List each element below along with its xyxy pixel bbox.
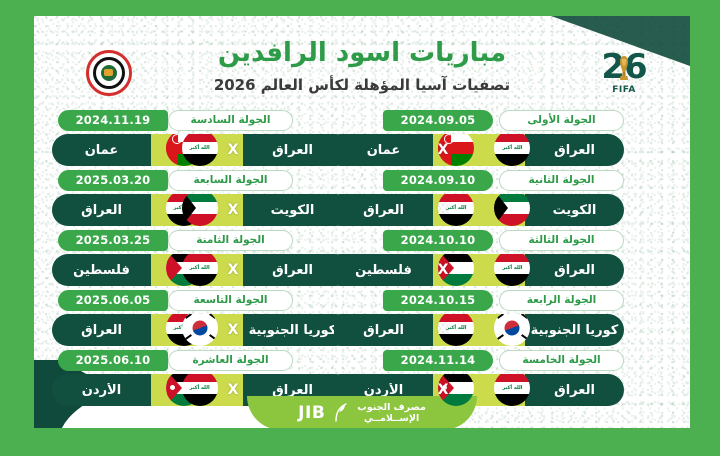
round-header: الجولة الخامسة2024.11.14 (334, 348, 624, 372)
versus-panel: X (151, 254, 243, 286)
page-title: مباريات اسود الرافدين (34, 38, 690, 68)
versus-panel: X (151, 134, 243, 166)
match-date-pill: 2024.11.14 (383, 350, 493, 371)
flag-iraq-icon (494, 254, 530, 286)
home-team-name: العراق (525, 383, 624, 398)
versus-separator: X (438, 262, 449, 278)
match-round: الجولة التاسعة2025.06.05العراقXكوريا الج… (52, 288, 342, 344)
versus-separator: X (228, 202, 239, 218)
versus-separator: X (228, 262, 239, 278)
round-header: الجولة الأولى2024.09.05 (334, 108, 624, 132)
round-header: الجولة العاشرة2025.06.10 (52, 348, 342, 372)
away-team-name: العراق (334, 323, 433, 338)
fifa-world-cup-2026-logo: 26 FIFA (594, 42, 654, 104)
match-bar[interactable]: فلسطينXالعراق (52, 254, 342, 286)
match-round: الجولة الثانية2024.09.10الكويتXالعراق (334, 168, 624, 224)
korea-flag-trigram-bar (497, 334, 504, 340)
round-label-pill: الجولة السابعة (168, 170, 293, 191)
match-bar[interactable]: عمانXالعراق (52, 134, 342, 166)
sponsor-bank-abbreviation: JIB (298, 403, 325, 423)
match-round: الجولة الأولى2024.09.05العراقXعمان (334, 108, 624, 164)
round-header: الجولة السابعة2025.03.20 (52, 168, 342, 192)
flag-south-korea-icon (494, 314, 530, 346)
poster-header: مباريات اسود الرافدين تصفيات آسيا المؤهل… (34, 16, 690, 110)
home-team-name: العراق (52, 203, 151, 218)
away-team-name: العراق (243, 143, 342, 158)
away-team-name: كوريا الجنوبية (243, 323, 342, 338)
home-team-name: العراق (525, 263, 624, 278)
round-header: الجولة التاسعة2025.06.05 (52, 288, 342, 312)
versus-separator: X (438, 142, 449, 158)
round-label-pill: الجولة الخامسة (499, 350, 624, 371)
match-round: الجولة السادسة2024.11.19عمانXالعراق (52, 108, 342, 164)
match-bar[interactable]: كوريا الجنوبيةXالعراق (334, 314, 624, 346)
round-header: الجولة الثالثة2024.10.10 (334, 228, 624, 252)
frame-left-border (0, 0, 34, 456)
sponsor-bank-name-line1: مصرف الجنوب (357, 402, 426, 413)
home-team-name: الكويت (525, 203, 624, 218)
away-team-name: العراق (243, 263, 342, 278)
sponsor-bank-name: مصرف الجنوب الإســلامــي (357, 402, 426, 424)
match-bar[interactable]: العراقXعمان (334, 134, 624, 166)
flag-kuwait-icon (182, 194, 218, 226)
match-date-pill: 2024.10.15 (383, 290, 493, 311)
match-bar[interactable]: الكويتXالعراق (334, 194, 624, 226)
round-header: الجولة السادسة2024.11.19 (52, 108, 342, 132)
match-column-right: الجولة الأولى2024.09.05العراقXعمانالجولة… (334, 108, 624, 408)
versus-separator: X (228, 142, 239, 158)
flag-iraq-icon (182, 134, 218, 166)
flag-south-korea-icon (182, 314, 218, 346)
match-bar[interactable]: العراقXالكويت (52, 194, 342, 226)
match-bar[interactable]: العراقXفلسطين (334, 254, 624, 286)
match-round: الجولة الثامنة2025.03.25فلسطينXالعراق (52, 228, 342, 284)
match-date-pill: 2025.03.25 (58, 230, 168, 251)
versus-panel: X (433, 374, 525, 406)
world-cup-trophy-icon (617, 54, 630, 82)
versus-separator: X (438, 322, 449, 338)
match-columns: الجولة السادسة2024.11.19عمانXالعراقالجول… (34, 108, 690, 408)
round-header: الجولة الرابعة2024.10.15 (334, 288, 624, 312)
korea-flag-trigram-bar (497, 314, 504, 319)
match-date-pill: 2024.10.10 (383, 230, 493, 251)
round-label-pill: الجولة السادسة (168, 110, 293, 131)
home-team-name: العراق (52, 323, 151, 338)
sponsor-bank-name-line2: الإســلامــي (357, 413, 426, 424)
home-team-name: عمان (52, 143, 151, 158)
home-team-name: الأردن (52, 383, 151, 398)
versus-panel: X (433, 134, 525, 166)
match-column-left: الجولة السادسة2024.11.19عمانXالعراقالجول… (52, 108, 342, 408)
round-label-pill: الجولة الثالثة (499, 230, 624, 251)
frame-bottom-border (0, 428, 720, 456)
flag-iraq-icon (494, 134, 530, 166)
match-round: الجولة السابعة2025.03.20العراقXالكويت (52, 168, 342, 224)
away-team-name: الكويت (243, 203, 342, 218)
round-label-pill: الجولة الأولى (499, 110, 624, 131)
versus-panel: X (151, 194, 243, 226)
away-team-name: عمان (334, 143, 433, 158)
round-header: الجولة الثامنة2025.03.25 (52, 228, 342, 252)
korea-flag-trigram-bar (185, 334, 192, 340)
home-team-name: كوريا الجنوبية (525, 323, 624, 338)
poster-canvas: مباريات اسود الرافدين تصفيات آسيا المؤهل… (34, 16, 690, 428)
versus-separator: X (438, 382, 449, 398)
away-team-name: فلسطين (334, 263, 433, 278)
match-round: الجولة الرابعة2024.10.15كوريا الجنوبيةXا… (334, 288, 624, 344)
home-team-name: فلسطين (52, 263, 151, 278)
versus-separator: X (228, 322, 239, 338)
frame-top-border (0, 0, 720, 16)
match-round: الجولة الثالثة2024.10.10العراقXفلسطين (334, 228, 624, 284)
home-team-name: العراق (525, 143, 624, 158)
poster-root: مباريات اسود الرافدين تصفيات آسيا المؤهل… (0, 0, 720, 456)
round-label-pill: الجولة العاشرة (168, 350, 293, 371)
versus-separator: X (228, 382, 239, 398)
round-label-pill: الجولة الرابعة (499, 290, 624, 311)
match-date-pill: 2025.06.05 (58, 290, 168, 311)
round-label-pill: الجولة الثانية (499, 170, 624, 191)
flag-iraq-icon (182, 254, 218, 286)
match-date-pill: 2024.09.10 (383, 170, 493, 191)
fifa-logo-number: 26 (601, 52, 646, 82)
match-date-pill: 2024.09.05 (383, 110, 493, 131)
flag-iraq-icon (494, 374, 530, 406)
round-header: الجولة الثانية2024.09.10 (334, 168, 624, 192)
match-date-pill: 2025.03.20 (58, 170, 168, 191)
match-date-pill: 2024.11.19 (58, 110, 168, 131)
frame-right-border (690, 0, 720, 456)
page-subtitle: تصفيات آسيا المؤهلة لكأس العالم 2026 (34, 76, 690, 94)
match-date-pill: 2025.06.10 (58, 350, 168, 371)
korea-flag-trigram-bar (521, 314, 528, 319)
versus-separator: X (438, 202, 449, 218)
versus-panel: X (151, 314, 243, 346)
versus-panel: X (151, 374, 243, 406)
versus-panel: X (433, 194, 525, 226)
round-label-pill: الجولة التاسعة (168, 290, 293, 311)
versus-panel: X (433, 254, 525, 286)
match-bar[interactable]: العراقXكوريا الجنوبية (52, 314, 342, 346)
round-label-pill: الجولة الثامنة (168, 230, 293, 251)
korea-flag-trigram-bar (209, 334, 216, 340)
away-team-name: العراق (334, 203, 433, 218)
flag-kuwait-icon (494, 194, 530, 226)
sponsor-leaf-icon (333, 403, 349, 423)
korea-flag-trigram-bar (521, 334, 528, 340)
flag-iraq-icon (182, 374, 218, 406)
versus-panel: X (433, 314, 525, 346)
